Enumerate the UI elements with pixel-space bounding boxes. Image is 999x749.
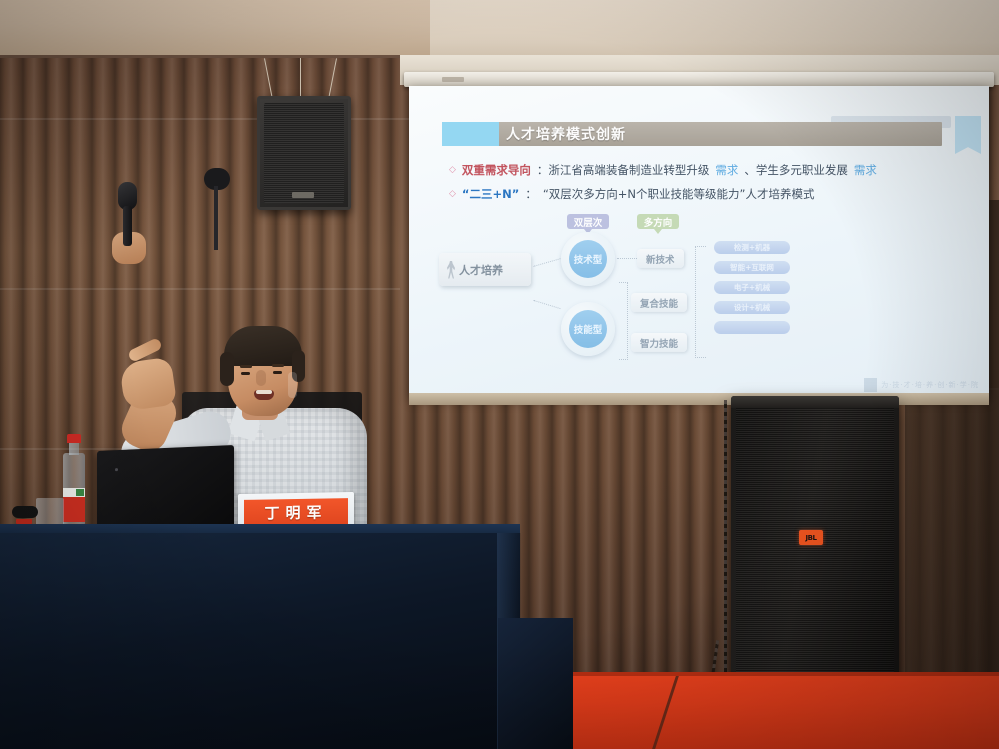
presenter-laptop[interactable] bbox=[97, 445, 234, 533]
presenter-hair bbox=[224, 326, 302, 366]
diagram-combo-0: 检测+机器 bbox=[714, 241, 790, 254]
slide-bullet-2: ◇ “二三+N” ： “双层次多方向+N个职业技能等级能力”人才培养模式 bbox=[449, 186, 814, 202]
foreground-dark-edge bbox=[498, 618, 573, 749]
water-bottle bbox=[62, 434, 86, 526]
handheld-microphone bbox=[118, 182, 137, 244]
laptop-logo-dot bbox=[115, 468, 118, 471]
bottle-cap bbox=[67, 434, 81, 443]
diagram-circle-1: 技能型 bbox=[561, 302, 615, 356]
bullet-marker-icon: ◇ bbox=[449, 189, 456, 199]
diagram-circle-0-label: 技术型 bbox=[569, 240, 607, 278]
diagram-tag-0: 双层次 bbox=[567, 214, 609, 229]
diagram-root-label: 人才培养 bbox=[459, 262, 503, 278]
diagram-pill-1: 复合技能 bbox=[631, 293, 687, 312]
presenter-name: 丁明军 bbox=[264, 501, 327, 523]
bullet-1-seg-1: ：浙江省高端装备制造业转型升级 bbox=[537, 162, 710, 178]
diagram-combo-1: 智能+互联网 bbox=[714, 261, 790, 274]
presenter-pointing-hand bbox=[119, 357, 177, 412]
diagram-combo-2: 电子+机械 bbox=[714, 281, 790, 294]
diagram-pill-0: 新技术 bbox=[637, 249, 684, 268]
bracket-skill bbox=[619, 282, 628, 360]
screen-bottom-trim bbox=[409, 393, 989, 405]
desk-microphone-stand bbox=[200, 168, 234, 248]
diagram-circle-0: 技术型 bbox=[561, 232, 615, 286]
bullet-marker-icon: ◇ bbox=[449, 165, 456, 175]
head-table-skirt bbox=[0, 533, 520, 749]
table-microphone bbox=[12, 506, 38, 518]
drinking-glass bbox=[36, 498, 64, 526]
bottle-label bbox=[63, 488, 85, 522]
jbl-logo-icon: JBL bbox=[799, 530, 823, 545]
diagram-combo-3: 设计+机械 bbox=[714, 301, 790, 314]
diagram-pill-2: 智力技能 bbox=[631, 333, 687, 352]
projector-screen-case bbox=[404, 72, 994, 87]
bullet-1-seg-4: 需求 bbox=[854, 162, 877, 178]
person-icon bbox=[447, 261, 455, 279]
slide-title: 人才培养模式创新 bbox=[506, 124, 626, 144]
hanging-speaker bbox=[257, 96, 351, 210]
name-placard-plate: 丁明军 bbox=[244, 498, 348, 527]
diagram-tag-1: 多方向 bbox=[637, 214, 679, 229]
institution-mark-icon bbox=[864, 378, 877, 392]
bracket-combos bbox=[695, 246, 706, 358]
diagram-circle-1-label: 技能型 bbox=[569, 310, 607, 348]
photo-scene: 人才培养模式创新 ◇ 双重需求导向 ：浙江省高端装备制造业转型升级 需求 、学生… bbox=[0, 0, 999, 749]
presenter-nose bbox=[256, 370, 266, 386]
bullet-2-seg-2: “双层次多方向+N个职业技能等级能力”人才培养模式 bbox=[543, 186, 815, 202]
diagram-root-node: 人才培养 bbox=[439, 253, 531, 286]
speaker-badge bbox=[292, 192, 314, 198]
bullet-2-seg-0: “二三+N” bbox=[462, 186, 519, 202]
bullet-1-seg-0: 双重需求导向 bbox=[462, 162, 531, 178]
slide-footer-logo: 为·技·才·培·养·创·新·学·院 bbox=[864, 378, 979, 392]
speaker-grille bbox=[264, 103, 344, 203]
bullet-1-seg-2: 需求 bbox=[715, 162, 738, 178]
speaker-chain bbox=[724, 400, 727, 690]
slide-content: 人才培养模式创新 ◇ 双重需求导向 ：浙江省高端装备制造业转型升级 需求 、学生… bbox=[409, 86, 989, 398]
diagram-combo-4 bbox=[714, 321, 790, 334]
bullet-1-seg-3: 、学生多元职业发展 bbox=[744, 162, 848, 178]
slide-bullet-1: ◇ 双重需求导向 ：浙江省高端装备制造业转型升级 需求 、学生多元职业发展 需求 bbox=[449, 162, 877, 178]
floor-speaker: JBL bbox=[731, 396, 899, 696]
presenter-hair-left bbox=[220, 352, 234, 386]
speaker-suspension-wires bbox=[256, 58, 346, 100]
projection-screen: 人才培养模式创新 ◇ 双重需求导向 ：浙江省高端装备制造业转型升级 需求 、学生… bbox=[409, 86, 989, 398]
bullet-2-seg-1: ： bbox=[525, 186, 537, 202]
floor-speaker-grille bbox=[736, 408, 894, 684]
slide-title-accent-block bbox=[442, 122, 499, 146]
slide-logo-text: 为·技·才·培·养·创·新·学·院 bbox=[881, 380, 979, 390]
